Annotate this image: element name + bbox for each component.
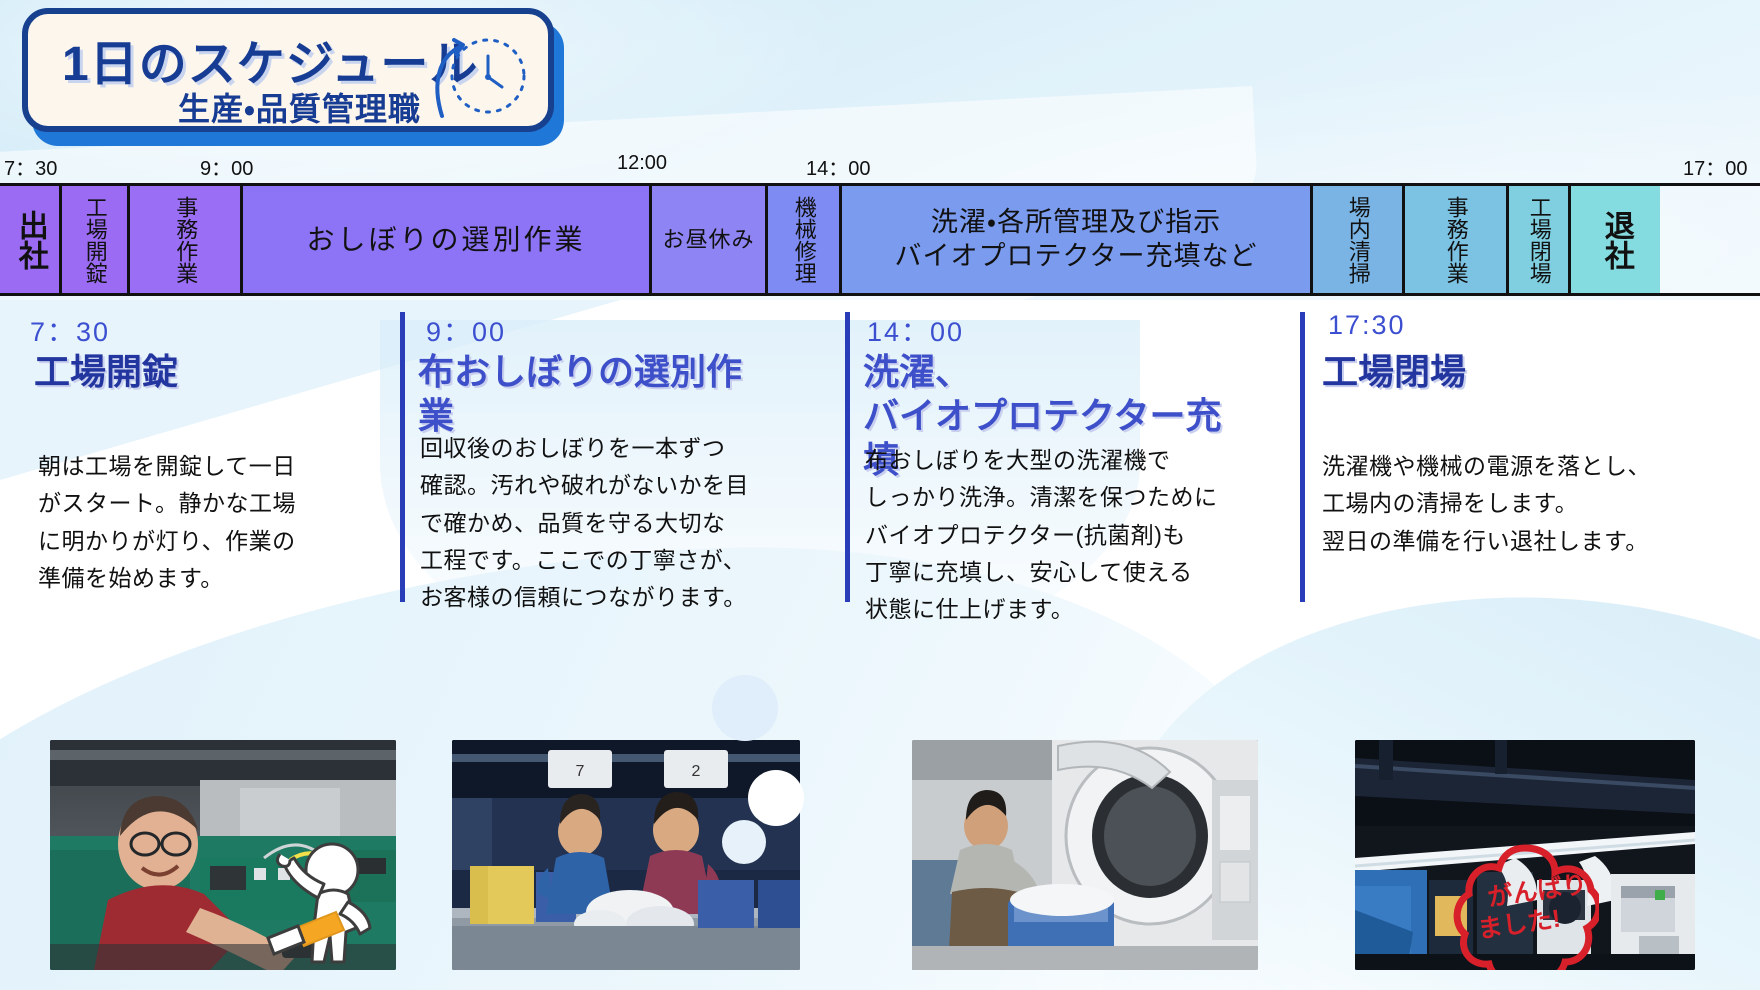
card-accent-rule bbox=[845, 312, 850, 602]
mascot-character-icon bbox=[256, 810, 376, 970]
photo-washing-machine bbox=[912, 740, 1258, 970]
card-heading: 工場開錠 bbox=[34, 350, 178, 394]
card-time: 7：30 bbox=[30, 310, 110, 349]
stamp-line-1: がんばり bbox=[1486, 869, 1589, 912]
timeline-ruler: 7：309：0012:0014：0017：00 bbox=[0, 152, 1760, 182]
timeline-segment-label: 洗濯・各所管理及び指示 バイオプロテクター充填など bbox=[895, 206, 1258, 274]
card-heading: 工場閉場 bbox=[1322, 350, 1466, 394]
card-accent-rule bbox=[1300, 312, 1305, 602]
ruler-tick: 9：00 bbox=[200, 152, 253, 181]
title-badge: 1日のスケジュール 生産・品質管理職 bbox=[22, 8, 564, 146]
timeline-segment-label: 事務作業 bbox=[1444, 196, 1466, 284]
timeline-segment: お昼休み bbox=[652, 186, 768, 293]
timeline-bar: 出社工場開錠事務作業おしぼりの選別作業お昼休み機械修理洗濯・各所管理及び指示 バ… bbox=[0, 183, 1760, 296]
stamp-badge: がんばり ました! bbox=[1451, 840, 1599, 970]
timeline-segment: 工場閉場 bbox=[1509, 186, 1571, 293]
photo-strip: 7 2 bbox=[0, 690, 1760, 990]
page-subtitle: 生産・品質管理職 bbox=[178, 84, 421, 130]
timeline-segment: 場内清掃 bbox=[1313, 186, 1405, 293]
card-accent-rule bbox=[400, 312, 405, 602]
card-time: 14：00 bbox=[867, 310, 964, 349]
card-body-text: 回収後のおしぼりを一本ずつ 確認。汚れや破れがないかを目 で確かめ、品質を守る大… bbox=[420, 430, 749, 616]
card-time: 17:30 bbox=[1328, 310, 1406, 341]
timeline-segment-label: 工場開錠 bbox=[83, 196, 105, 284]
bubble-decoration bbox=[748, 770, 804, 826]
timeline-segment: 事務作業 bbox=[1405, 186, 1509, 293]
svg-text:2: 2 bbox=[692, 763, 701, 780]
timeline-segment-label: おしぼりの選別作業 bbox=[306, 222, 585, 257]
timeline-segment: おしぼりの選別作業 bbox=[243, 186, 652, 293]
timeline-segment-label: 事務作業 bbox=[174, 196, 196, 284]
timeline-segment: 退社 bbox=[1571, 186, 1660, 293]
timeline-segment-label: 場内清掃 bbox=[1346, 196, 1368, 284]
card-body-text: 朝は工場を開錠して一日 がスタート。静かな工場 に明かりが灯り、作業の 準備を始… bbox=[38, 448, 296, 597]
bubble-decoration bbox=[712, 675, 778, 741]
ruler-tick: 12:00 bbox=[617, 152, 667, 175]
timeline-segment-label: 機械修理 bbox=[792, 196, 814, 284]
card-body-text: 洗濯機や機械の電源を落とし、 工場内の清掃をします。 翌日の準備を行い退社します… bbox=[1322, 448, 1651, 560]
ruler-tick: 17：00 bbox=[1683, 152, 1748, 181]
schedule-card: 9：00布おしぼりの選別作業回収後のおしぼりを一本ずつ 確認。汚れや破れがないか… bbox=[400, 300, 760, 680]
schedule-card: 17:30工場閉場洗濯機や機械の電源を落とし、 工場内の清掃をします。 翌日の準… bbox=[1300, 300, 1720, 680]
photo-factory-line: がんばり ました! bbox=[1355, 740, 1695, 970]
svg-text:7: 7 bbox=[576, 763, 585, 780]
timeline-segment: 洗濯・各所管理及び指示 バイオプロテクター充填など bbox=[842, 186, 1313, 293]
timeline-segment: 機械修理 bbox=[768, 186, 842, 293]
ruler-tick: 14：00 bbox=[806, 152, 871, 181]
schedule-card: 14：00洗濯、 バイオプロテクター充填布おしぼりを大型の洗濯機で しっかり洗浄… bbox=[845, 300, 1225, 680]
timeline-segment-label: 工場閉場 bbox=[1527, 196, 1549, 284]
photo-worker-machine bbox=[50, 740, 396, 970]
card-body-text: 布おしぼりを大型の洗濯機で しっかり洗浄。清潔を保つために バイオプロテクター(… bbox=[865, 442, 1218, 628]
card-time: 9：00 bbox=[426, 310, 506, 349]
timeline-segment-label: 退社 bbox=[1600, 210, 1631, 270]
timeline-segment: 工場開錠 bbox=[62, 186, 130, 293]
clock-arrow-icon bbox=[422, 30, 530, 130]
schedule-card: 7：30工場開錠朝は工場を開錠して一日 がスタート。静かな工場 に明かりが灯り、… bbox=[20, 300, 370, 680]
schedule-cards: 7：30工場開錠朝は工場を開錠して一日 がスタート。静かな工場 に明かりが灯り、… bbox=[0, 300, 1760, 690]
timeline-segment-label: お昼休み bbox=[662, 226, 754, 254]
timeline-segment: 出社 bbox=[0, 186, 62, 293]
timeline-segment-label: 出社 bbox=[14, 210, 45, 270]
ruler-tick: 7：30 bbox=[4, 152, 57, 181]
timeline-segment: 事務作業 bbox=[130, 186, 243, 293]
card-heading: 布おしぼりの選別作業 bbox=[418, 350, 760, 438]
bubble-decoration bbox=[722, 820, 766, 864]
